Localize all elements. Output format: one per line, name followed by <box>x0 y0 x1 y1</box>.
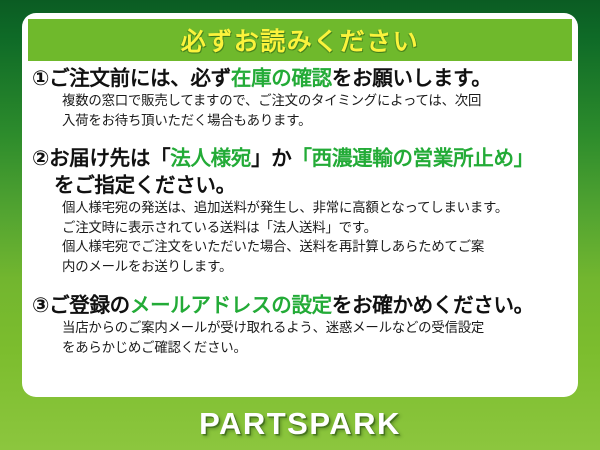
item-3-highlight: メールアドレスの設定 <box>130 293 332 317</box>
list-marker-2: ② <box>32 146 49 170</box>
list-marker-1: ① <box>32 66 49 90</box>
notice-item-2-sub-line-3: 個人様宅宛でご注文をいただいた場合、送料を再計算しあらためてご案 <box>32 238 570 258</box>
item-2-highlight-2: 「西濃運輸の営業所止め」 <box>291 146 533 170</box>
notice-card: 必ずお読みください ①ご注文前には、必ず在庫の確認をお願いします。 複数の窓口で… <box>22 13 578 397</box>
notice-item-3-sub-line-2: をあらかじめご確認ください。 <box>32 339 570 359</box>
brand-logo: PARTSPARK <box>199 406 401 442</box>
notice-item-2-heading: ②お届け先は「法人様宛」か「西濃運輸の営業所止め」 <box>32 145 570 172</box>
notice-item-1: ①ご注文前には、必ず在庫の確認をお願いします。 複数の窓口で販売してますので、ご… <box>32 65 570 131</box>
notice-banner: 必ずお読みください ①ご注文前には、必ず在庫の確認をお願いします。 複数の窓口で… <box>0 0 600 450</box>
item-3-text-b: をお確かめください。 <box>332 293 534 317</box>
notice-item-1-heading: ①ご注文前には、必ず在庫の確認をお願いします。 <box>32 65 570 92</box>
notice-item-2-sub-line-1: 個人様宅宛の発送は、追加送料が発生し、非常に高額となってしまいます。 <box>32 199 570 219</box>
notice-item-3-sub-line-1: 当店からのご案内メールが受け取れるよう、迷惑メールなどの受信設定 <box>32 319 570 339</box>
footer-logo-area: PARTSPARK <box>0 398 600 450</box>
list-marker-3: ③ <box>32 293 49 317</box>
spacer-1 <box>32 133 570 145</box>
item-3-text-a: ご登録の <box>49 293 130 317</box>
item-1-highlight: 在庫の確認 <box>231 66 332 90</box>
notice-item-2-sub-line-4: 内のメールをお送りします。 <box>32 258 570 278</box>
item-2-bracket-close: 」 <box>251 146 271 170</box>
notice-item-2-sub-line-2: ご注文時に表示されている送料は「法人送料」です。 <box>32 219 570 239</box>
notice-item-3: ③ご登録のメールアドレスの設定をお確かめください。 当店からのご案内メールが受け… <box>32 292 570 358</box>
item-1-text-a: ご注文前には、必ず <box>49 66 231 90</box>
notice-item-1-sub-line-2: 入荷をお待ち頂いただく場合もあります。 <box>32 112 570 132</box>
notice-item-2-heading-line2: をご指定ください。 <box>32 172 570 199</box>
item-1-text-b: をお願いします。 <box>332 66 492 90</box>
notice-item-3-heading: ③ご登録のメールアドレスの設定をお確かめください。 <box>32 292 570 319</box>
item-2-text-a: お届け先は <box>49 146 150 170</box>
notice-item-2: ②お届け先は「法人様宛」か「西濃運輸の営業所止め」 をご指定ください。 個人様宅… <box>32 145 570 277</box>
item-2-text-b: か <box>271 146 291 170</box>
notice-content: ①ご注文前には、必ず在庫の確認をお願いします。 複数の窓口で販売してますので、ご… <box>22 65 578 360</box>
notice-item-1-sub-line-1: 複数の窓口で販売してますので、ご注文のタイミングによっては、次回 <box>32 92 570 112</box>
item-2-bracket-open: 「 <box>150 146 170 170</box>
item-2-highlight-1: 法人様宛 <box>170 146 251 170</box>
title-bar: 必ずお読みください <box>28 19 572 61</box>
spacer-2 <box>32 279 570 292</box>
banner-title: 必ずお読みください <box>181 22 420 58</box>
